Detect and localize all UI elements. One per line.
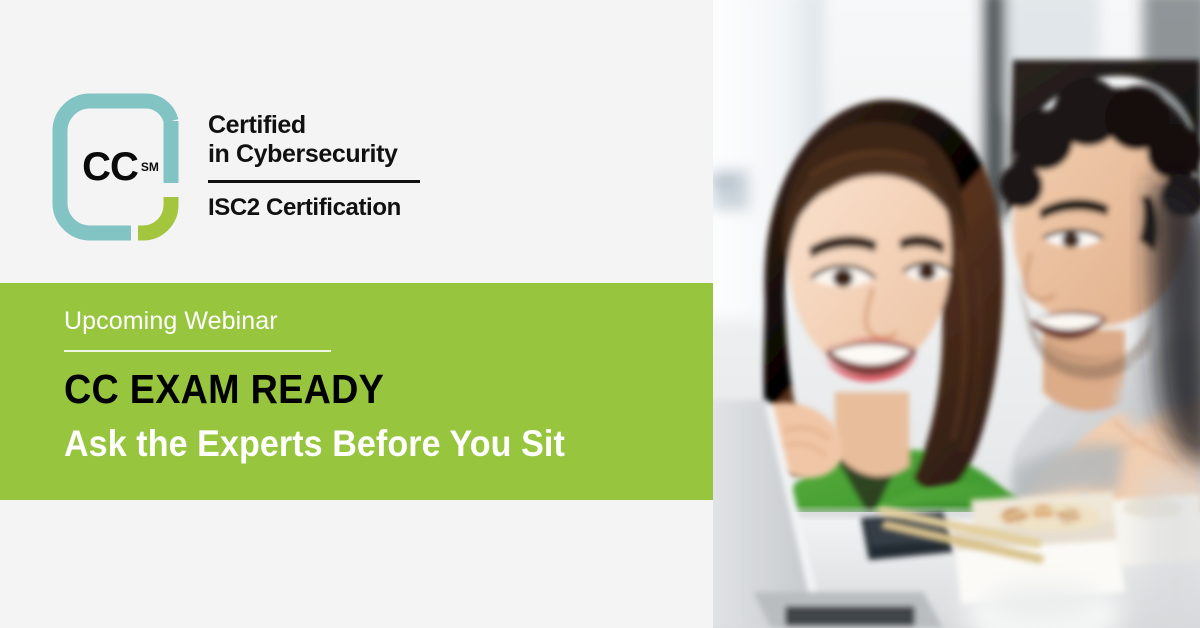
wordmark-subtitle: ISC2 Certification xyxy=(208,195,426,221)
webinar-kicker-label: Upcoming Webinar xyxy=(64,309,713,334)
wordmark-line-1: Certified xyxy=(208,111,426,140)
wordmark-line-2: in Cybersecurity xyxy=(208,140,426,169)
service-mark-symbol: SM xyxy=(141,160,159,174)
hero-photo xyxy=(713,0,1200,628)
webinar-subheadline: Ask the Experts Before You Sit xyxy=(64,425,661,462)
left-content-panel: CCSM Certified in Cybersecurity ISC2 Cer… xyxy=(0,0,713,628)
band-content: Upcoming Webinar CC EXAM READY Ask the E… xyxy=(0,283,713,462)
cc-badge-text: CCSM xyxy=(52,93,185,241)
webinar-callout-band: Upcoming Webinar CC EXAM READY Ask the E… xyxy=(0,283,713,500)
webinar-headline: CC EXAM READY xyxy=(64,369,661,410)
wordmark-divider xyxy=(208,180,420,183)
webinar-promo-banner: CCSM Certified in Cybersecurity ISC2 Cer… xyxy=(0,0,1200,628)
isc2-cc-logo-lockup: CCSM Certified in Cybersecurity ISC2 Cer… xyxy=(52,93,426,241)
cc-badge-icon: CCSM xyxy=(52,93,185,241)
logo-wordmark: Certified in Cybersecurity ISC2 Certific… xyxy=(208,93,426,221)
kicker-divider xyxy=(64,350,331,352)
cc-initials: CC xyxy=(82,147,138,187)
